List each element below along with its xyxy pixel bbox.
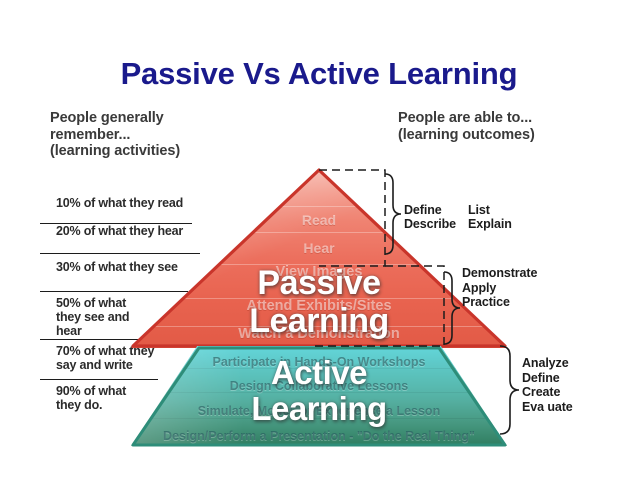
- right-column-header: People are able to... (learning outcomes…: [398, 110, 628, 143]
- outcome-group-top: Define Describe List Explain: [404, 188, 512, 246]
- left-column-header: People generally remember... (learning a…: [50, 110, 280, 160]
- outcome-top-col2: List Explain: [468, 203, 512, 232]
- retention-label: 90% of what they do.: [56, 384, 126, 412]
- active-learning-section: [131, 346, 507, 446]
- page-title: Passive Vs Active Learning: [0, 56, 638, 92]
- outcome-group-bottom: Analyze Define Create Eva uate: [522, 356, 573, 414]
- outcome-top-col1: Define Describe: [404, 203, 464, 232]
- retention-label: 50% of what they see and hear: [56, 296, 129, 338]
- outcome-group-middle: Demonstrate Apply Practice: [462, 266, 537, 310]
